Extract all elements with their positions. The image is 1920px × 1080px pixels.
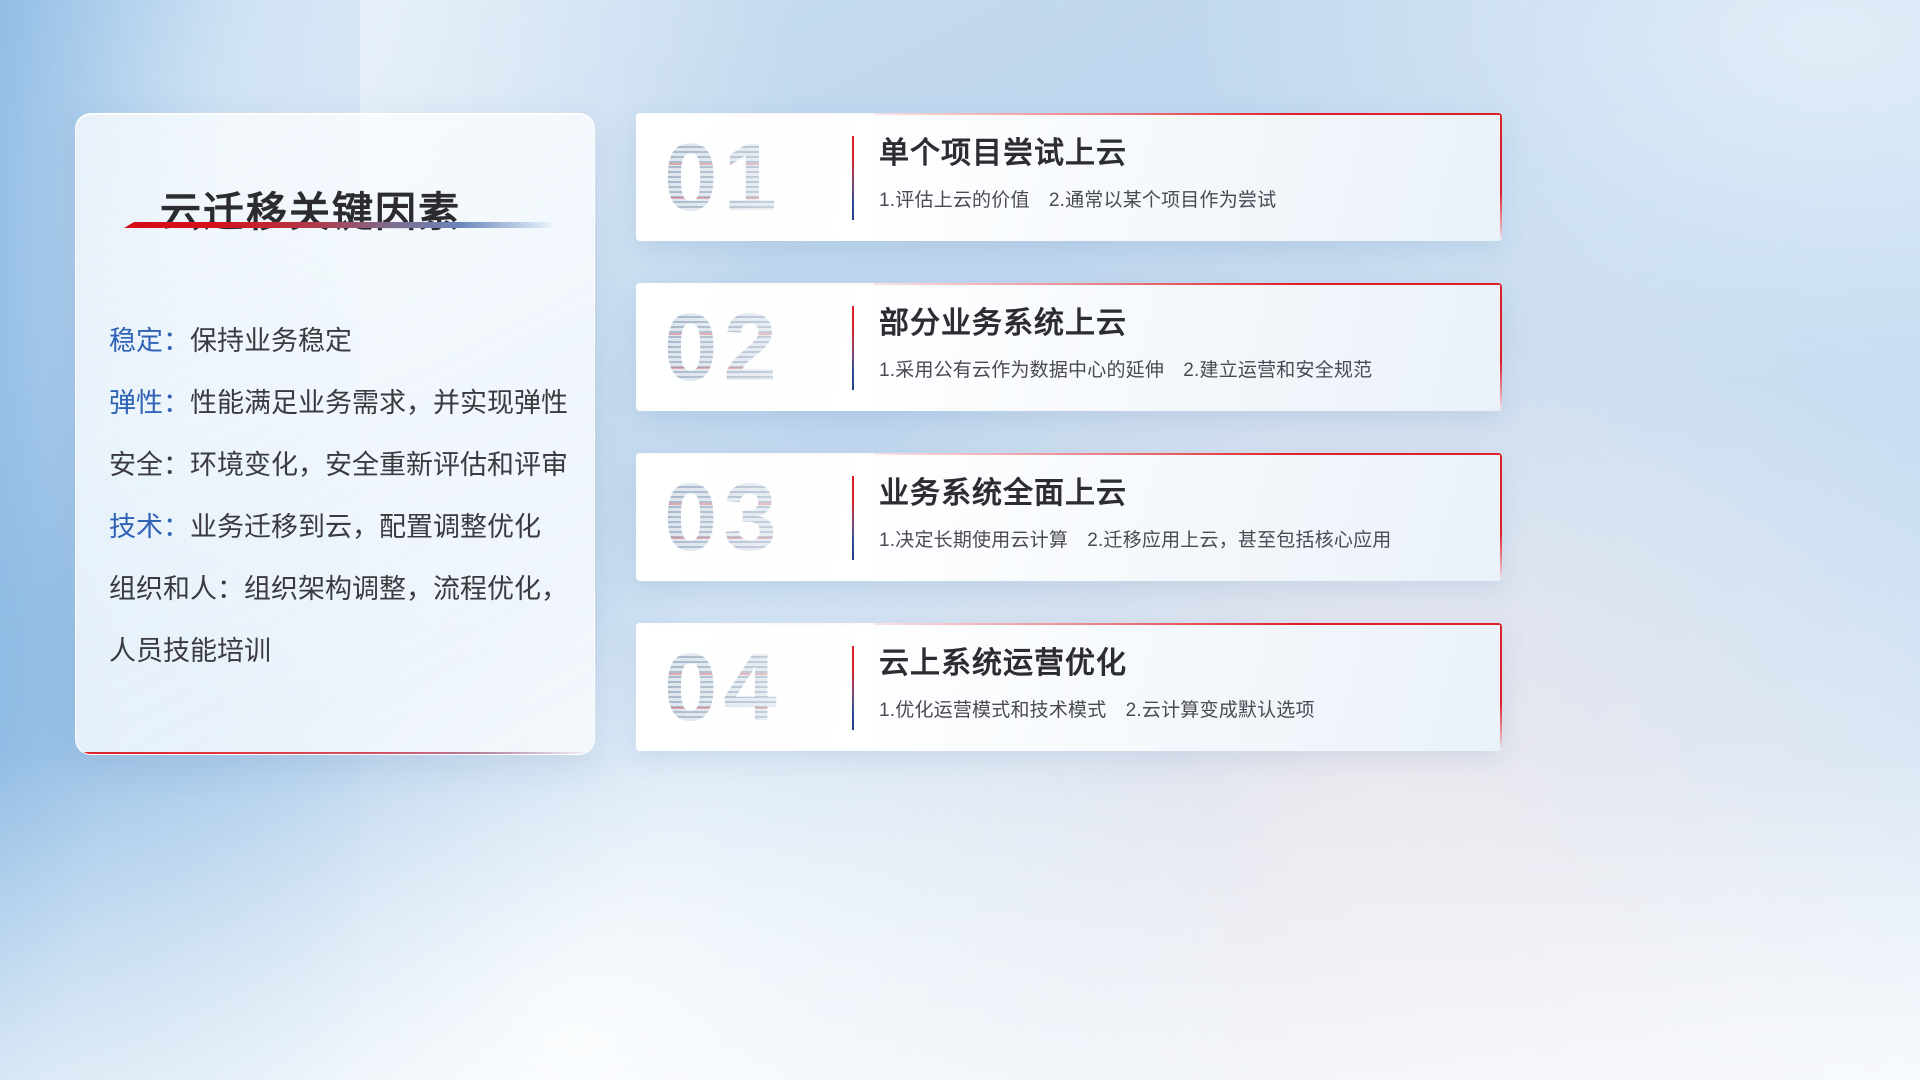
stage-card[interactable]: 04 04 04 云上系统运营优化 1.优化运营模式和技术模式 2.云计算变成默… [636, 623, 1502, 751]
stage-card[interactable]: 01 01 01 单个项目尝试上云 1.评估上云的价值 2.通常以某个项目作为尝… [636, 113, 1502, 241]
factor-label: 组织和人 [109, 574, 217, 604]
stage-number-fade-overlay [654, 283, 874, 409]
stage-number-graphic: 04 04 04 [664, 639, 854, 739]
stage-number-base: 02 [664, 293, 783, 403]
factor-row: 稳定：保持业务稳定 [109, 310, 576, 372]
stage-number-graphic: 03 03 03 [664, 469, 854, 569]
factor-text: 组织架构调整，流程优化， [244, 574, 568, 604]
title-underline-rule [124, 222, 556, 228]
factor-text: 业务迁移到云，配置调整优化 [190, 512, 541, 542]
stage-number-fade-overlay [654, 623, 874, 749]
stage-card[interactable]: 02 02 02 部分业务系统上云 1.采用公有云作为数据中心的延伸 2.建立运… [636, 283, 1502, 411]
stage-number-red-accent: 03 [664, 463, 783, 573]
stage-divider-bar [852, 476, 854, 560]
stage-subtitle: 1.评估上云的价值 2.通常以某个项目作为尝试 [879, 187, 1478, 215]
stage-number-graphic: 02 02 02 [664, 299, 854, 399]
factor-row: 弹性：性能满足业务需求，并实现弹性 [109, 372, 576, 434]
page-title: 云迁移关键因素 [160, 178, 461, 238]
factor-label: 技术 [109, 512, 163, 542]
stage-card-body: 业务系统全面上云 1.决定长期使用云计算 2.迁移应用上云，甚至包括核心应用 [879, 473, 1478, 555]
slide-canvas: 云迁移关键因素 稳定：保持业务稳定 弹性：性能满足业务需求，并实现弹性 安全：环… [0, 0, 1920, 1080]
factor-colon: ： [163, 512, 190, 542]
stage-card-body: 云上系统运营优化 1.优化运营模式和技术模式 2.云计算变成默认选项 [879, 643, 1478, 725]
factor-colon: ： [163, 388, 190, 418]
factor-colon: ： [217, 574, 244, 604]
factor-label: 稳定 [109, 326, 163, 356]
stage-card-body: 单个项目尝试上云 1.评估上云的价值 2.通常以某个项目作为尝试 [879, 133, 1478, 215]
stage-number-red-accent: 02 [664, 293, 783, 403]
stage-number-base: 03 [664, 463, 783, 573]
factor-colon: ： [163, 450, 190, 480]
stage-title: 云上系统运营优化 [879, 643, 1478, 685]
stage-number-scanlines: 03 [664, 463, 783, 573]
stage-title: 单个项目尝试上云 [879, 133, 1478, 175]
stage-divider-bar [852, 136, 854, 220]
background-gradient-bottom [0, 750, 1920, 1080]
stage-subtitle: 1.优化运营模式和技术模式 2.云计算变成默认选项 [879, 697, 1478, 725]
stage-number-base: 04 [664, 633, 783, 743]
factor-row: 组织和人：组织架构调整，流程优化， [109, 558, 576, 620]
stage-title: 业务系统全面上云 [879, 473, 1478, 515]
stage-card[interactable]: 03 03 03 业务系统全面上云 1.决定长期使用云计算 2.迁移应用上云，甚… [636, 453, 1502, 581]
stage-number-graphic: 01 01 01 [664, 129, 854, 229]
stage-number-fade-overlay [654, 113, 874, 239]
stage-subtitle: 1.决定长期使用云计算 2.迁移应用上云，甚至包括核心应用 [879, 527, 1478, 555]
factor-text: 性能满足业务需求，并实现弹性 [190, 388, 568, 418]
factor-text: 环境变化，安全重新评估和评审 [190, 450, 568, 480]
stage-number-red-accent: 01 [664, 123, 783, 233]
stage-number-scanlines: 04 [664, 633, 783, 743]
stage-subtitle: 1.采用公有云作为数据中心的延伸 2.建立运营和安全规范 [879, 357, 1478, 385]
factor-label: 弹性 [109, 388, 163, 418]
stage-number-scanlines: 02 [664, 293, 783, 403]
stage-title: 部分业务系统上云 [879, 303, 1478, 345]
factor-continuation-text: 人员技能培训 [109, 620, 576, 682]
factor-text: 保持业务稳定 [190, 326, 352, 356]
stage-divider-bar [852, 646, 854, 730]
stage-card-body: 部分业务系统上云 1.采用公有云作为数据中心的延伸 2.建立运营和安全规范 [879, 303, 1478, 385]
factor-list: 稳定：保持业务稳定 弹性：性能满足业务需求，并实现弹性 安全：环境变化，安全重新… [109, 310, 576, 682]
factor-colon: ： [163, 326, 190, 356]
stage-number-fade-overlay [654, 453, 874, 579]
factor-row: 技术：业务迁移到云，配置调整优化 [109, 496, 576, 558]
stage-number-base: 01 [664, 123, 783, 233]
factor-row: 安全：环境变化，安全重新评估和评审 [109, 434, 576, 496]
key-factors-panel: 云迁移关键因素 稳定：保持业务稳定 弹性：性能满足业务需求，并实现弹性 安全：环… [75, 113, 595, 755]
stage-number-scanlines: 01 [664, 123, 783, 233]
stage-number-red-accent: 04 [664, 633, 783, 743]
stage-divider-bar [852, 306, 854, 390]
migration-stage-card-list: 01 01 01 单个项目尝试上云 1.评估上云的价值 2.通常以某个项目作为尝… [636, 113, 1502, 793]
key-factors-panel-inner: 云迁移关键因素 稳定：保持业务稳定 弹性：性能满足业务需求，并实现弹性 安全：环… [76, 114, 594, 754]
factor-label: 安全 [109, 450, 163, 480]
